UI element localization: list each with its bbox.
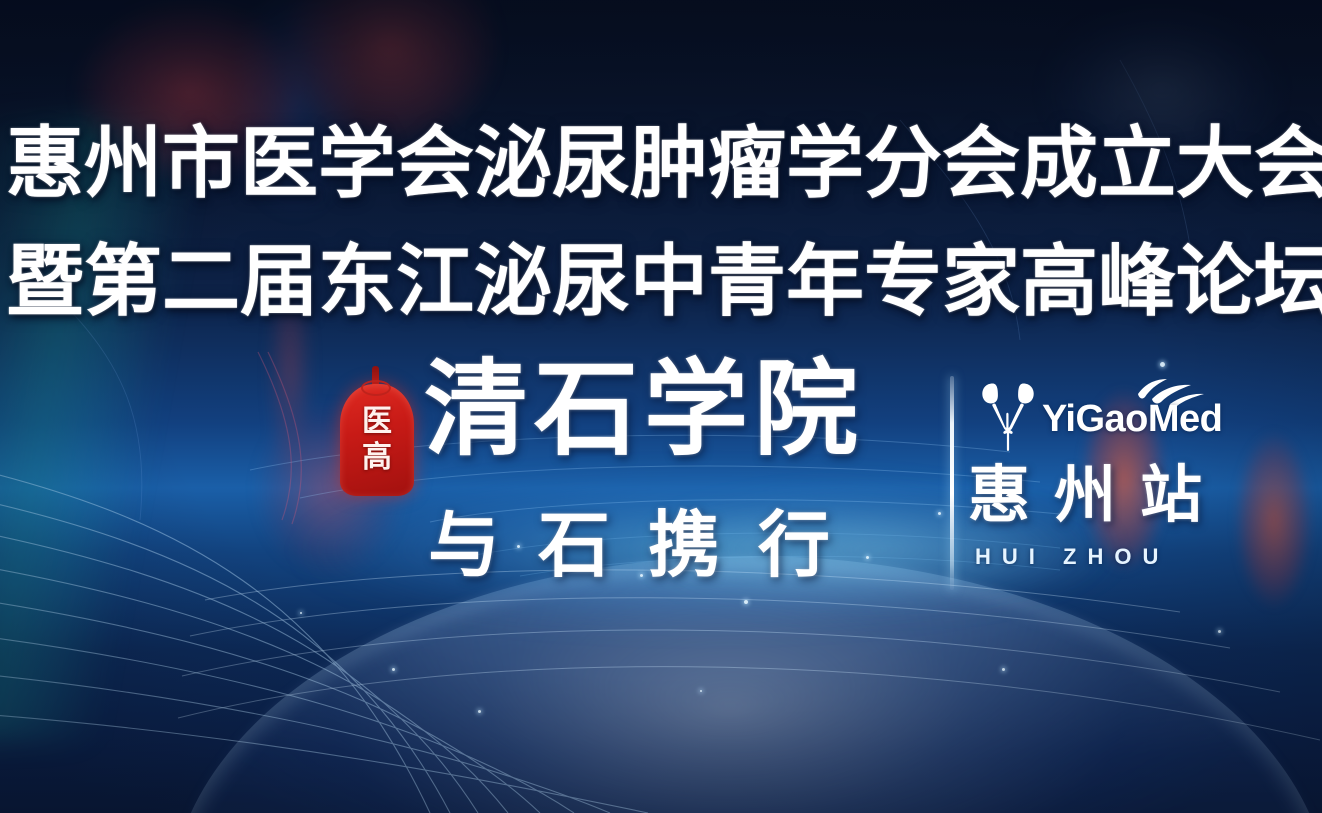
sponsor-logo: YiGaoMed [978, 380, 1208, 456]
headline-line-2: 暨第二届东江泌尿中青年专家高峰论坛 [6, 222, 1322, 340]
academy-tagline: 与石携行 [428, 504, 868, 588]
headline-line-1: 惠州市医学会泌尿肿瘤学分会成立大会 [6, 104, 1322, 222]
conference-banner: 惠州市医学会泌尿肿瘤学分会成立大会 暨第二届东江泌尿中青年专家高峰论坛 医 高 … [0, 0, 1322, 813]
kidney-ureter-icon [978, 380, 1038, 454]
brand-lockup: 医 高 清石学院 与石携行 [0, 352, 1322, 602]
seal-char-top: 医 [362, 405, 392, 439]
seal-char-bottom: 高 [362, 441, 392, 475]
event-headline: 惠州市医学会泌尿肿瘤学分会成立大会 暨第二届东江泌尿中青年专家高峰论坛 [6, 104, 1322, 340]
lockup-divider [950, 376, 954, 590]
seal-characters: 医 高 [336, 388, 418, 492]
sponsor-wordmark: YiGaoMed [1042, 398, 1222, 440]
station-name: 惠州站 [968, 460, 1226, 532]
station-pinyin: HUI ZHOU [975, 544, 1169, 570]
academy-name: 清石学院 [424, 352, 864, 468]
red-seal-badge: 医 高 [336, 366, 418, 498]
